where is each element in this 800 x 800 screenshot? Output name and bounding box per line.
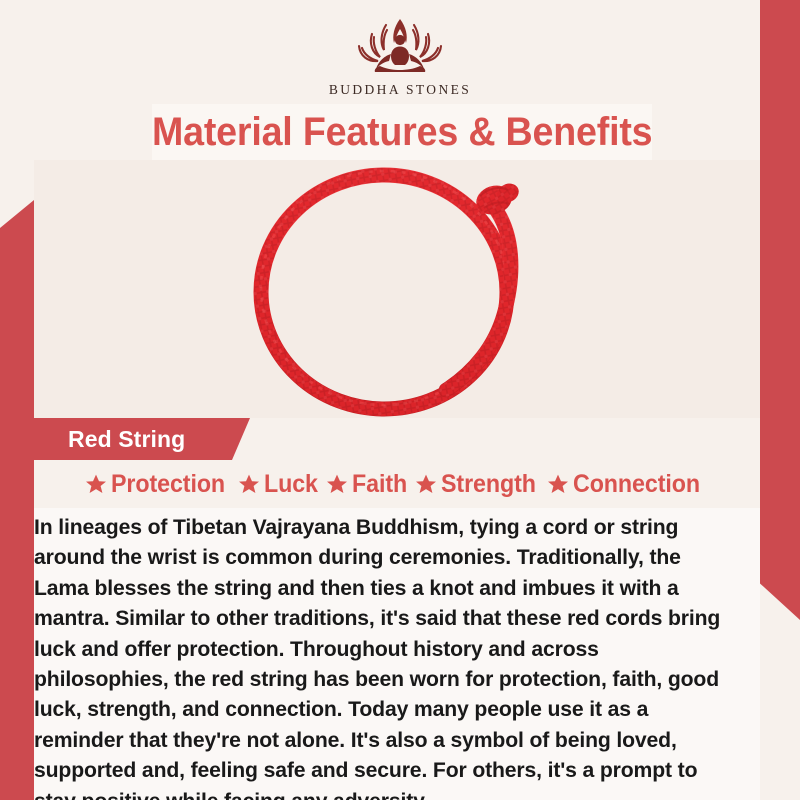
benefits-list: Protection Luck Faith Strength Connectio: [34, 463, 760, 505]
benefit-item-strength: Strength: [414, 470, 543, 499]
description-panel: In lineages of Tibetan Vajrayana Buddhis…: [34, 508, 760, 800]
star-icon: [546, 472, 570, 496]
star-icon: [414, 472, 438, 496]
star-icon: [237, 472, 261, 496]
star-icon: [325, 472, 349, 496]
page-title: Material Features & Benefits: [152, 110, 652, 155]
star-icon: [84, 472, 108, 496]
description-text: In lineages of Tibetan Vajrayana Buddhis…: [34, 512, 724, 800]
benefit-item-luck: Luck: [237, 470, 322, 499]
brand-wordmark: BUDDHA STONES: [329, 82, 471, 98]
benefit-label: Faith: [352, 470, 407, 499]
benefit-item-connection: Connection: [546, 470, 710, 499]
benefit-item-protection: Protection: [84, 470, 234, 499]
benefit-label: Connection: [573, 470, 700, 499]
red-braided-string-bracelet-icon: [232, 162, 562, 418]
infographic-page: BUDDHA STONES Material Features & Benefi…: [0, 0, 800, 800]
brand-logo: BUDDHA STONES: [0, 12, 800, 98]
section-label-text: Red String: [68, 426, 185, 453]
decor-left-red-band: [0, 200, 34, 800]
benefit-label: Protection: [111, 470, 225, 499]
benefit-item-faith: Faith: [325, 470, 411, 499]
section-label-banner: Red String: [34, 418, 250, 460]
benefit-label: Strength: [441, 470, 536, 499]
title-banner: Material Features & Benefits: [152, 104, 652, 160]
benefit-label: Luck: [264, 470, 318, 499]
lotus-meditation-icon: [334, 12, 466, 80]
product-image-area: [34, 160, 760, 418]
